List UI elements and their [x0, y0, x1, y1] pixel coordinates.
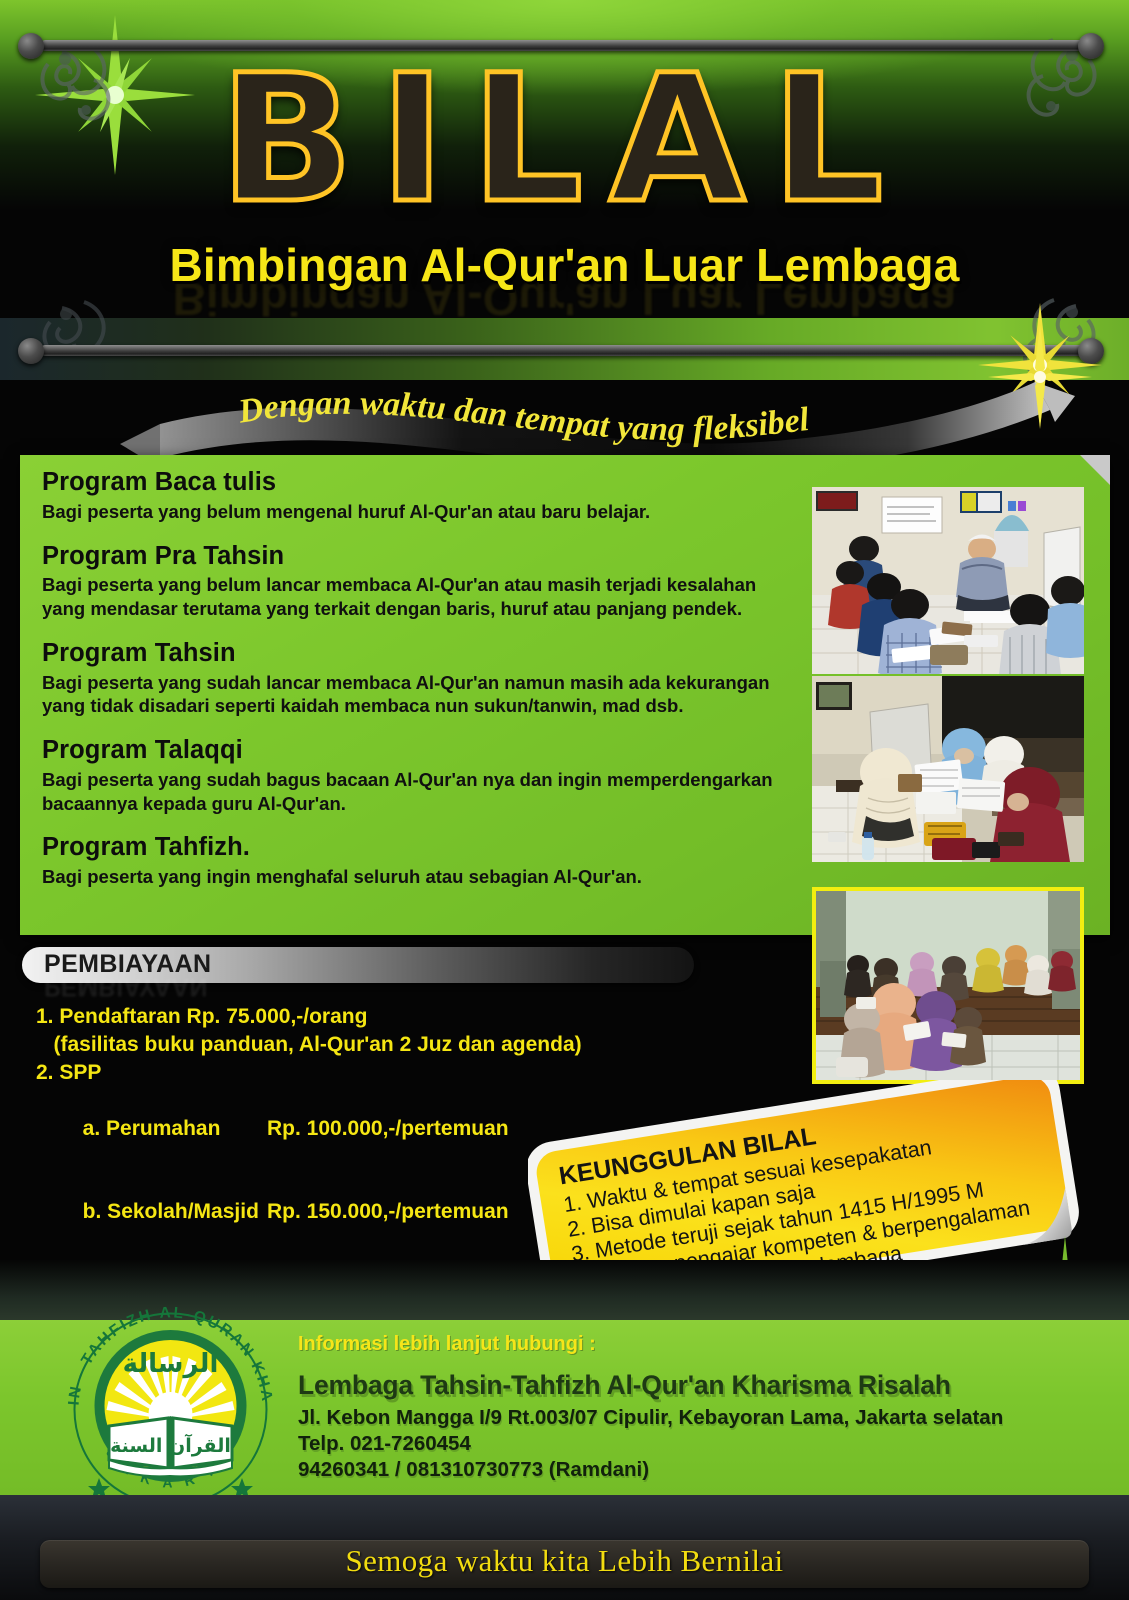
- page-subtitle: Bimbingan Al-Qur'an Luar Lembaga: [0, 238, 1129, 292]
- spp-row: a. PerumahanRp. 100.000,-/pertemuan: [36, 1087, 596, 1171]
- starburst-ribbon-right-icon: [985, 322, 1095, 432]
- program-desc-line: Bagi peserta yang ingin menghafal seluru…: [42, 865, 802, 889]
- program-description: Bagi peserta yang ingin menghafal seluru…: [42, 865, 802, 889]
- spp-price: Rp. 100.000,-/pertemuan: [267, 1117, 509, 1140]
- footer-phone-1: Telp. 021-7260454: [298, 1431, 1088, 1457]
- photo-large-quran-class: [812, 887, 1084, 1084]
- rod-cap-divider-left: [18, 338, 44, 364]
- spp-label: a. Perumahan: [71, 1115, 267, 1143]
- program-desc-line: Bagi peserta yang belum lancar membaca A…: [42, 573, 802, 597]
- program-title: Program Baca tulis: [42, 467, 802, 499]
- tagline-ribbon: Dengan waktu dan tempat yang fleksibel: [0, 366, 1129, 458]
- photo-mens-study-group: [812, 487, 1084, 674]
- pembiayaan-item: (fasilitas buku panduan, Al-Qur'an 2 Juz…: [36, 1031, 596, 1059]
- logo-arabic-top: الرسالة: [123, 1349, 219, 1379]
- program-item: Program Talaqqi Bagi peserta yang sudah …: [42, 735, 802, 815]
- program-title: Program Tahsin: [42, 638, 802, 670]
- spp-price: Rp. 150.000,-/pertemuan: [267, 1200, 509, 1223]
- programs-list: Program Baca tulis Bagi peserta yang bel…: [42, 467, 802, 906]
- program-title: Program Pra Tahsin: [42, 541, 802, 573]
- spp-label: b. Sekolah/Masjid: [71, 1198, 267, 1226]
- program-desc-line: Bagi peserta yang sudah bagus bacaan Al-…: [42, 768, 802, 792]
- program-item: Program Baca tulis Bagi peserta yang bel…: [42, 467, 802, 524]
- program-item: Program Tahsin Bagi peserta yang sudah l…: [42, 638, 802, 718]
- program-desc-line: yang mendasar terutama yang terkait deng…: [42, 597, 802, 621]
- logo-arabic-book: القرآن السنة: [110, 1433, 231, 1457]
- footer-lead: Informasi lebih lanjut hubungi :: [298, 1333, 1088, 1356]
- page-title: BILAL: [0, 52, 1129, 228]
- pembiayaan-item: 2. SPP: [36, 1059, 596, 1087]
- program-desc-line: bacaannya kepada guru Al-Qur'an.: [42, 792, 802, 816]
- footer-phone-2: 94260341 / 081310730773 (Ramdani): [298, 1457, 1088, 1483]
- program-title: Program Tahfizh.: [42, 832, 802, 864]
- pembiayaan-item: 1. Pendaftaran Rp. 75.000,-/orang: [36, 1003, 596, 1031]
- program-description: Bagi peserta yang sudah lancar membaca A…: [42, 671, 802, 718]
- metal-rod-divider: [40, 345, 1090, 356]
- program-desc-line: Bagi peserta yang sudah lancar membaca A…: [42, 671, 802, 695]
- footer-organization: Lembaga Tahsin-Tahfizh Al-Qur'an Kharism…: [298, 1370, 1088, 1401]
- footer-contact: Informasi lebih lanjut hubungi : Lembaga…: [298, 1333, 1088, 1483]
- footer-address: Jl. Kebon Mangga I/9 Rt.003/07 Cipulir, …: [298, 1405, 1088, 1431]
- bottom-motto: Semoga waktu kita Lebih Bernilai: [0, 1543, 1129, 1579]
- poster-title-wrap: BILAL: [0, 52, 1129, 228]
- photo-womens-study-group: [812, 676, 1084, 862]
- program-description: Bagi peserta yang belum mengenal huruf A…: [42, 500, 802, 524]
- spp-row: b. Sekolah/MasjidRp. 150.000,-/pertemuan: [36, 1171, 596, 1255]
- program-desc-line: yang tidak disadari seperti kaidah memba…: [42, 694, 802, 718]
- program-desc-line: Bagi peserta yang belum mengenal huruf A…: [42, 500, 802, 524]
- program-description: Bagi peserta yang sudah bagus bacaan Al-…: [42, 768, 802, 815]
- program-item: Program Tahfizh. Bagi peserta yang ingin…: [42, 832, 802, 889]
- organization-logo: LEMBAGA TAHSIN - TAHFIZH AL-QURAN KHARIS…: [63, 1302, 278, 1517]
- program-title: Program Talaqqi: [42, 735, 802, 767]
- panel-corner-fold: [1080, 455, 1110, 485]
- program-description: Bagi peserta yang belum lancar membaca A…: [42, 573, 802, 620]
- pembiayaan-heading: PEMBIAYAAN: [44, 950, 211, 979]
- program-item: Program Pra Tahsin Bagi peserta yang bel…: [42, 541, 802, 621]
- poster-root: BILAL Bimbingan Al-Qur'an Luar Lembaga B…: [0, 0, 1129, 1600]
